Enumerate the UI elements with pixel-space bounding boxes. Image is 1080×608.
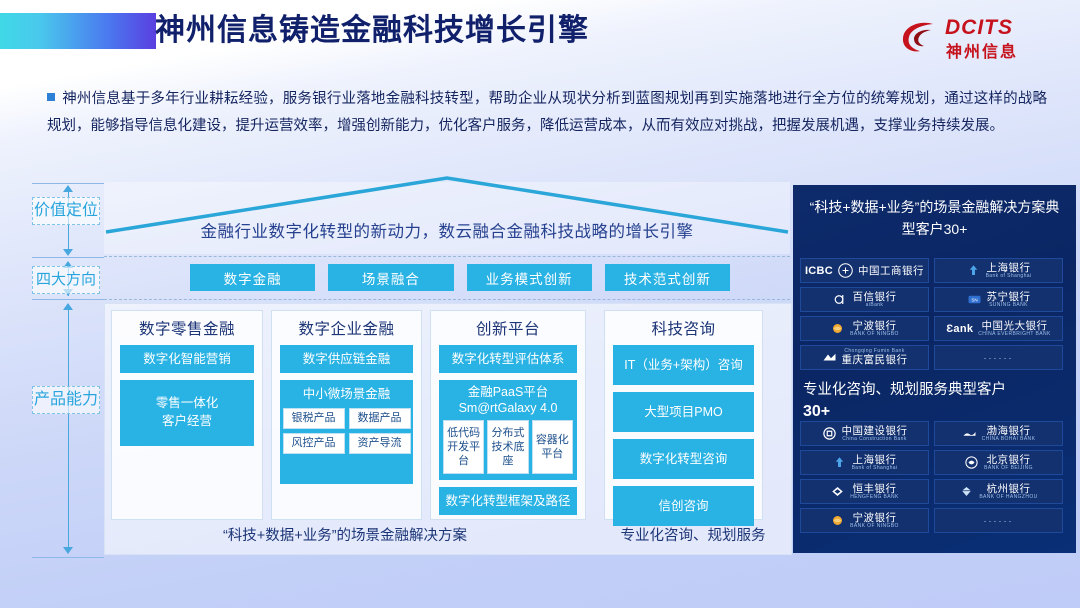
customer-panel-heading: “科技+数据+业务”的场景金融解决方案典型客户30+ — [793, 190, 1076, 246]
ningbo-bank-icon — [830, 513, 845, 528]
rail-axis-line — [68, 304, 69, 552]
logo-cell-aibank[interactable]: 百信银行aiBank — [800, 287, 929, 312]
paas-title-en: Sm@rtGalaxy 4.0 — [443, 400, 573, 416]
hengfeng-bank-icon — [830, 484, 845, 499]
logo-name-cn: 宁波银行 — [852, 512, 896, 524]
logo-name-cn: 中国光大银行 — [982, 320, 1048, 332]
logo-cell-more-bottom[interactable]: ······ — [934, 508, 1063, 533]
block-msme-scenario-finance[interactable]: 中小微场景金融 银税产品 数据产品 风控产品 资产导流 — [280, 380, 413, 484]
logo-name-en: SUNING BANK — [989, 303, 1028, 309]
column-digital-enterprise-finance[interactable]: 数字企业金融 数字供应链金融 中小微场景金融 银税产品 数据产品 风控产品 资产… — [271, 310, 422, 520]
logo-name-en: Bank of Shanghai — [986, 274, 1032, 280]
mid-heading-line1: 专业化咨询、规划服务典型客户 — [803, 382, 1006, 398]
shanghai-bank-icon — [832, 455, 847, 470]
subtag-distributed-tech-base[interactable]: 分布式技术底座 — [487, 420, 528, 474]
block-digital-transformation-framework[interactable]: 数字化转型框架及路径 — [439, 487, 577, 515]
logo-name-cn: 恒丰银行 — [852, 483, 896, 495]
ellipsis-icon: ······ — [984, 353, 1014, 363]
dcits-logo-en: DCITS — [945, 16, 1013, 40]
rail-arrow-down-icon — [63, 547, 73, 554]
logo-name-cn: 中国工商银行 — [858, 263, 924, 278]
customer-panel-mid-heading: 专业化咨询、规划服务典型客户 30+ — [793, 376, 1076, 427]
rail-divider — [32, 257, 104, 258]
direction-chip-digital-finance[interactable]: 数字金融 — [190, 264, 315, 291]
column-digital-retail-finance[interactable]: 数字零售金融 数字化智能营销 零售一体化 客户经营 — [111, 310, 263, 520]
block-digital-transformation-consulting[interactable]: 数字化转型咨询 — [613, 439, 754, 479]
direction-chip-scenario-fusion[interactable]: 场景融合 — [328, 264, 453, 291]
icbc-abbr-label: ICBC — [805, 265, 833, 277]
logo-name-en: CHINA EVERBRIGHT BANK — [978, 332, 1051, 338]
rail-label-product-capability: 产品能力 — [32, 386, 100, 414]
ellipsis-icon: ······ — [984, 516, 1014, 526]
logo-name-cn: 宁波银行 — [852, 320, 896, 332]
logo-name-cn: 上海银行 — [987, 262, 1031, 274]
intro-paragraph: 神州信息基于多年行业耕耘经验，服务银行业落地金融科技转型，帮助企业从现状分析到蓝… — [47, 86, 1047, 140]
intro-text: 神州信息基于多年行业耕耘经验，服务银行业落地金融科技转型，帮助企业从现状分析到蓝… — [47, 91, 1047, 134]
logo-name-cn: 北京银行 — [986, 454, 1030, 466]
subtag-risk-control-product[interactable]: 风控产品 — [283, 433, 345, 454]
rail-label-four-directions: 四大方向 — [32, 266, 100, 294]
everbright-icon: Ɛank — [946, 323, 973, 335]
subtag-bank-tax-product[interactable]: 银税产品 — [283, 408, 345, 429]
subtag-containerization-platform[interactable]: 容器化平台 — [532, 420, 573, 474]
logo-cell-icbc[interactable]: ICBC 中国工商银行 — [800, 258, 929, 283]
bohai-bank-icon — [962, 426, 977, 441]
logo-cell-ningbo-bank-2[interactable]: 宁波银行BANK OF NINGBO — [800, 508, 929, 533]
ningbo-bank-icon — [830, 321, 845, 336]
logo-name-cn: 中国建设银行 — [842, 425, 908, 437]
aibank-icon — [833, 292, 848, 307]
logo-cell-bank-of-shanghai[interactable]: 上海银行Bank of Shanghai — [934, 258, 1063, 283]
value-statement-text: 金融行业数字化转型的新动力，数云融合金融科技战略的增长引擎 — [104, 218, 790, 242]
logo-cell-everbright-bank[interactable]: Ɛank 中国光大银行CHINA EVERBRIGHT BANK — [934, 316, 1063, 341]
column-innovation-platform[interactable]: 创新平台 数字化转型评估体系 金融PaaS平台 Sm@rtGalaxy 4.0 … — [430, 310, 586, 520]
block-xinchuang-consulting[interactable]: 信创咨询 — [613, 486, 754, 526]
subtag-lowcode-dev-platform[interactable]: 低代码开发平台 — [443, 420, 484, 474]
logo-cell-bank-of-shanghai-2[interactable]: 上海银行Bank of Shanghai — [800, 450, 929, 475]
msme-subtag-grid: 银税产品 数据产品 风控产品 资产导流 — [282, 408, 411, 454]
logo-name-cn: 百信银行 — [853, 291, 897, 303]
suning-bank-icon: SN — [967, 292, 982, 307]
logo-name-cn: 重庆富民银行 — [842, 354, 908, 366]
rail-arrow-up-icon — [63, 303, 73, 310]
beijing-bank-icon — [964, 455, 979, 470]
block-label: 中小微场景金融 — [282, 385, 411, 403]
logo-name-cn: 渤海银行 — [986, 425, 1030, 437]
dcits-logo: DCITS 神州信息 — [900, 16, 1040, 60]
logo-name-cn: 杭州银行 — [986, 483, 1030, 495]
rail-divider — [32, 557, 104, 558]
logo-name-cn: 苏宁银行 — [987, 291, 1031, 303]
column-title: 创新平台 — [439, 317, 577, 339]
section-divider-dashed — [104, 299, 790, 300]
dcits-swirl-icon — [900, 18, 940, 56]
rail-arrow-up-icon — [63, 185, 73, 192]
logo-cell-hengfeng-bank[interactable]: 恒丰银行HENGFENG BANK — [800, 479, 929, 504]
dcits-logo-cn: 神州信息 — [946, 38, 1018, 62]
header-accent-bar — [0, 13, 156, 49]
block-digital-supply-chain-finance[interactable]: 数字供应链金融 — [280, 345, 413, 373]
logo-name-en: BANK OF HANGZHOU — [979, 495, 1037, 501]
column-tech-consulting[interactable]: 科技咨询 IT（业务+架构）咨询 大型项目PMO 数字化转型咨询 信创咨询 — [604, 310, 763, 520]
four-directions-row: 数字金融 场景融合 业务模式创新 技术范式创新 — [190, 264, 730, 291]
logo-name-cn: 上海银行 — [853, 454, 897, 466]
column-title: 数字零售金融 — [120, 317, 254, 339]
block-digital-transformation-assessment[interactable]: 数字化转型评估体系 — [439, 345, 577, 373]
block-digital-smart-marketing[interactable]: 数字化智能营销 — [120, 345, 254, 373]
icbc-icon — [838, 263, 853, 278]
block-it-consulting[interactable]: IT（业务+架构）咨询 — [613, 345, 754, 385]
customer-logo-grid-bottom: 中国建设银行China Construction Bank 渤海银行CHINA … — [793, 421, 1076, 533]
slide-root: 神州信息铸造金融科技增长引擎 DCITS 神州信息 神州信息基于多年行业耕耘经验… — [0, 0, 1080, 608]
subtag-data-product[interactable]: 数据产品 — [349, 408, 411, 429]
logo-cell-suning-bank[interactable]: SN 苏宁银行SUNING BANK — [934, 287, 1063, 312]
caption-consulting: 专业化咨询、规划服务 — [604, 524, 782, 545]
logo-name-en: BANK OF NINGBO — [850, 332, 899, 338]
logo-cell-ningbo-bank[interactable]: 宁波银行BANK OF NINGBO — [800, 316, 929, 341]
block-financial-paas-platform[interactable]: 金融PaaS平台 Sm@rtGalaxy 4.0 低代码开发平台 分布式技术底座… — [439, 380, 577, 480]
rail-divider — [32, 183, 104, 184]
direction-chip-tech-paradigm-innovation[interactable]: 技术范式创新 — [605, 264, 730, 291]
rail-arrow-down-icon — [63, 249, 73, 256]
svg-text:SN: SN — [971, 297, 977, 302]
left-axis-rail: 价值定位 四大方向 产品能力 — [32, 183, 104, 558]
column-title: 科技咨询 — [613, 317, 754, 339]
section-divider-dashed — [104, 256, 790, 257]
logo-cell-more-top[interactable]: ······ — [934, 345, 1063, 370]
ccb-icon — [822, 426, 837, 441]
logo-cell-fumin-bank[interactable]: Chongqing Fumin Bank重庆富民银行 — [800, 345, 929, 370]
column-title: 数字企业金融 — [280, 317, 413, 339]
bullet-square-icon — [47, 93, 55, 101]
fumin-bank-icon — [822, 350, 837, 365]
logo-name-en: Bank of Shanghai — [852, 466, 898, 472]
rail-label-value-position: 价值定位 — [32, 197, 100, 225]
paas-subtag-grid: 低代码开发平台 分布式技术底座 容器化平台 — [443, 420, 573, 474]
block-large-project-pmo[interactable]: 大型项目PMO — [613, 392, 754, 432]
page-title: 神州信息铸造金融科技增长引擎 — [155, 10, 589, 52]
hangzhou-bank-icon — [959, 484, 974, 499]
logo-cell-hangzhou-bank[interactable]: 杭州银行BANK OF HANGZHOU — [934, 479, 1063, 504]
shanghai-bank-icon — [966, 263, 981, 278]
logo-name-en: China Construction Bank — [842, 437, 907, 443]
logo-cell-ccb[interactable]: 中国建设银行China Construction Bank — [800, 421, 929, 446]
logo-name-en: BANK OF NINGBO — [850, 524, 899, 530]
paas-title-cn: 金融PaaS平台 — [443, 384, 573, 400]
customer-logo-grid-top: ICBC 中国工商银行 上海银行Bank of Shanghai 百信银行aiB… — [793, 258, 1076, 370]
product-columns: 数字零售金融 数字化智能营销 零售一体化 客户经营 数字企业金融 数字供应链金融… — [111, 310, 783, 520]
logo-cell-beijing-bank[interactable]: 北京银行BANK OF BEIJING — [934, 450, 1063, 475]
logo-cell-bohai-bank[interactable]: 渤海银行CHINA BOHAI BANK — [934, 421, 1063, 446]
logo-name-en: BANK OF BEIJING — [984, 466, 1033, 472]
direction-chip-business-model-innovation[interactable]: 业务模式创新 — [467, 264, 592, 291]
rail-divider — [32, 299, 104, 300]
logo-name-en: CHINA BOHAI BANK — [982, 437, 1036, 443]
logo-name-en: HENGFENG BANK — [850, 495, 899, 501]
subtag-asset-routing[interactable]: 资产导流 — [349, 433, 411, 454]
mid-heading-line2: 30+ — [803, 403, 830, 420]
logo-name-en: aiBank — [866, 303, 884, 309]
slide-header: 神州信息铸造金融科技增长引擎 DCITS 神州信息 — [0, 0, 1080, 72]
block-retail-integrated-customer-ops[interactable]: 零售一体化 客户经营 — [120, 380, 254, 446]
caption-solution: “科技+数据+业务”的场景金融解决方案 — [111, 524, 579, 545]
